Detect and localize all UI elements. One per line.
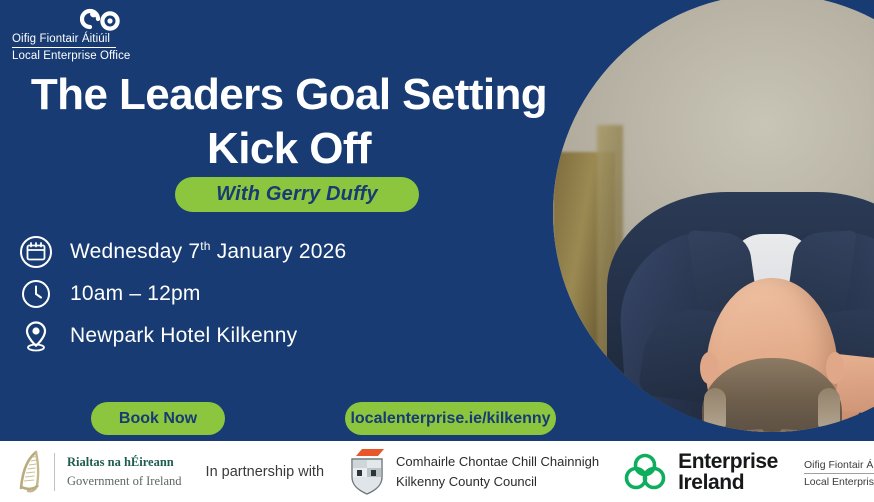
poster-main-area: Oifig Fiontair Áitiúil Local Enterprise … <box>0 0 874 441</box>
gov-logo-line1: Rialtas na hÉireann <box>67 455 174 469</box>
gov-logo-line2: Government of Ireland <box>67 474 182 488</box>
headline-line-1: The Leaders Goal Setting <box>31 70 547 119</box>
detail-time-text: 10am – 12pm <box>70 282 201 306</box>
headline-line-2: Kick Off <box>0 122 578 176</box>
footer-local-enterprise-office-logo: Oifig Fiontair Áitiúil Local Enterprise … <box>804 456 874 488</box>
footer-divider <box>54 453 55 491</box>
irish-harp-icon <box>14 449 44 495</box>
location-pin-icon <box>18 318 54 354</box>
footer-leo-line2: Local Enterprise Office <box>804 476 874 488</box>
book-now-button[interactable]: Book Now <box>91 402 225 435</box>
enterprise-ireland-logo: Enterprise Ireland <box>621 451 778 493</box>
local-enterprise-office-logo: Oifig Fiontair Áitiúil Local Enterprise … <box>12 8 124 62</box>
date-ordinal-suffix: th <box>200 239 210 253</box>
detail-row-time: 10am – 12pm <box>18 274 538 314</box>
clock-icon <box>18 276 54 312</box>
ei-logo-line1: Enterprise <box>678 450 778 473</box>
council-logo-line1: Comhairle Chontae Chill Chainnigh <box>396 454 599 469</box>
kilkenny-county-council-logo: Comhairle Chontae Chill Chainnigh Kilken… <box>348 447 599 497</box>
event-poster: Oifig Fiontair Áitiúil Local Enterprise … <box>0 0 874 502</box>
detail-row-date: Wednesday 7th January 2026 <box>18 232 538 272</box>
ei-logo-line2: Ireland <box>678 471 744 494</box>
government-of-ireland-logo: Rialtas na hÉireann Government of Irelan… <box>14 449 182 495</box>
date-main: Wednesday 7 <box>70 240 200 263</box>
detail-date-text: Wednesday 7th January 2026 <box>70 240 346 264</box>
speaker-badge: With Gerry Duffy <box>175 177 419 212</box>
page-title: The Leaders Goal Setting Kick Off <box>0 68 578 176</box>
footer-leo-rule <box>804 473 874 474</box>
leo-loop-icon <box>80 6 124 37</box>
date-year: January 2026 <box>211 240 347 263</box>
leo-logo-line2: Local Enterprise Office <box>12 50 124 62</box>
leo-logo-rule <box>12 47 116 48</box>
website-url-button[interactable]: localenterprise.ie/kilkenny <box>345 402 556 435</box>
enterprise-ireland-trefoil-icon <box>621 452 669 492</box>
partnership-label: In partnership with <box>206 464 324 480</box>
kilkenny-crest-icon <box>348 447 392 497</box>
detail-location-text: Newpark Hotel Kilkenny <box>70 324 297 348</box>
event-details: Wednesday 7th January 2026 10am – 12pm <box>18 232 538 358</box>
detail-row-location: Newpark Hotel Kilkenny <box>18 316 538 356</box>
speaker-photo <box>553 0 874 432</box>
calendar-icon <box>18 234 54 270</box>
council-logo-line2: Kilkenny County Council <box>396 474 537 489</box>
footer-leo-line1: Oifig Fiontair Áitiúil <box>804 459 874 471</box>
partner-footer: Rialtas na hÉireann Government of Irelan… <box>0 441 874 502</box>
